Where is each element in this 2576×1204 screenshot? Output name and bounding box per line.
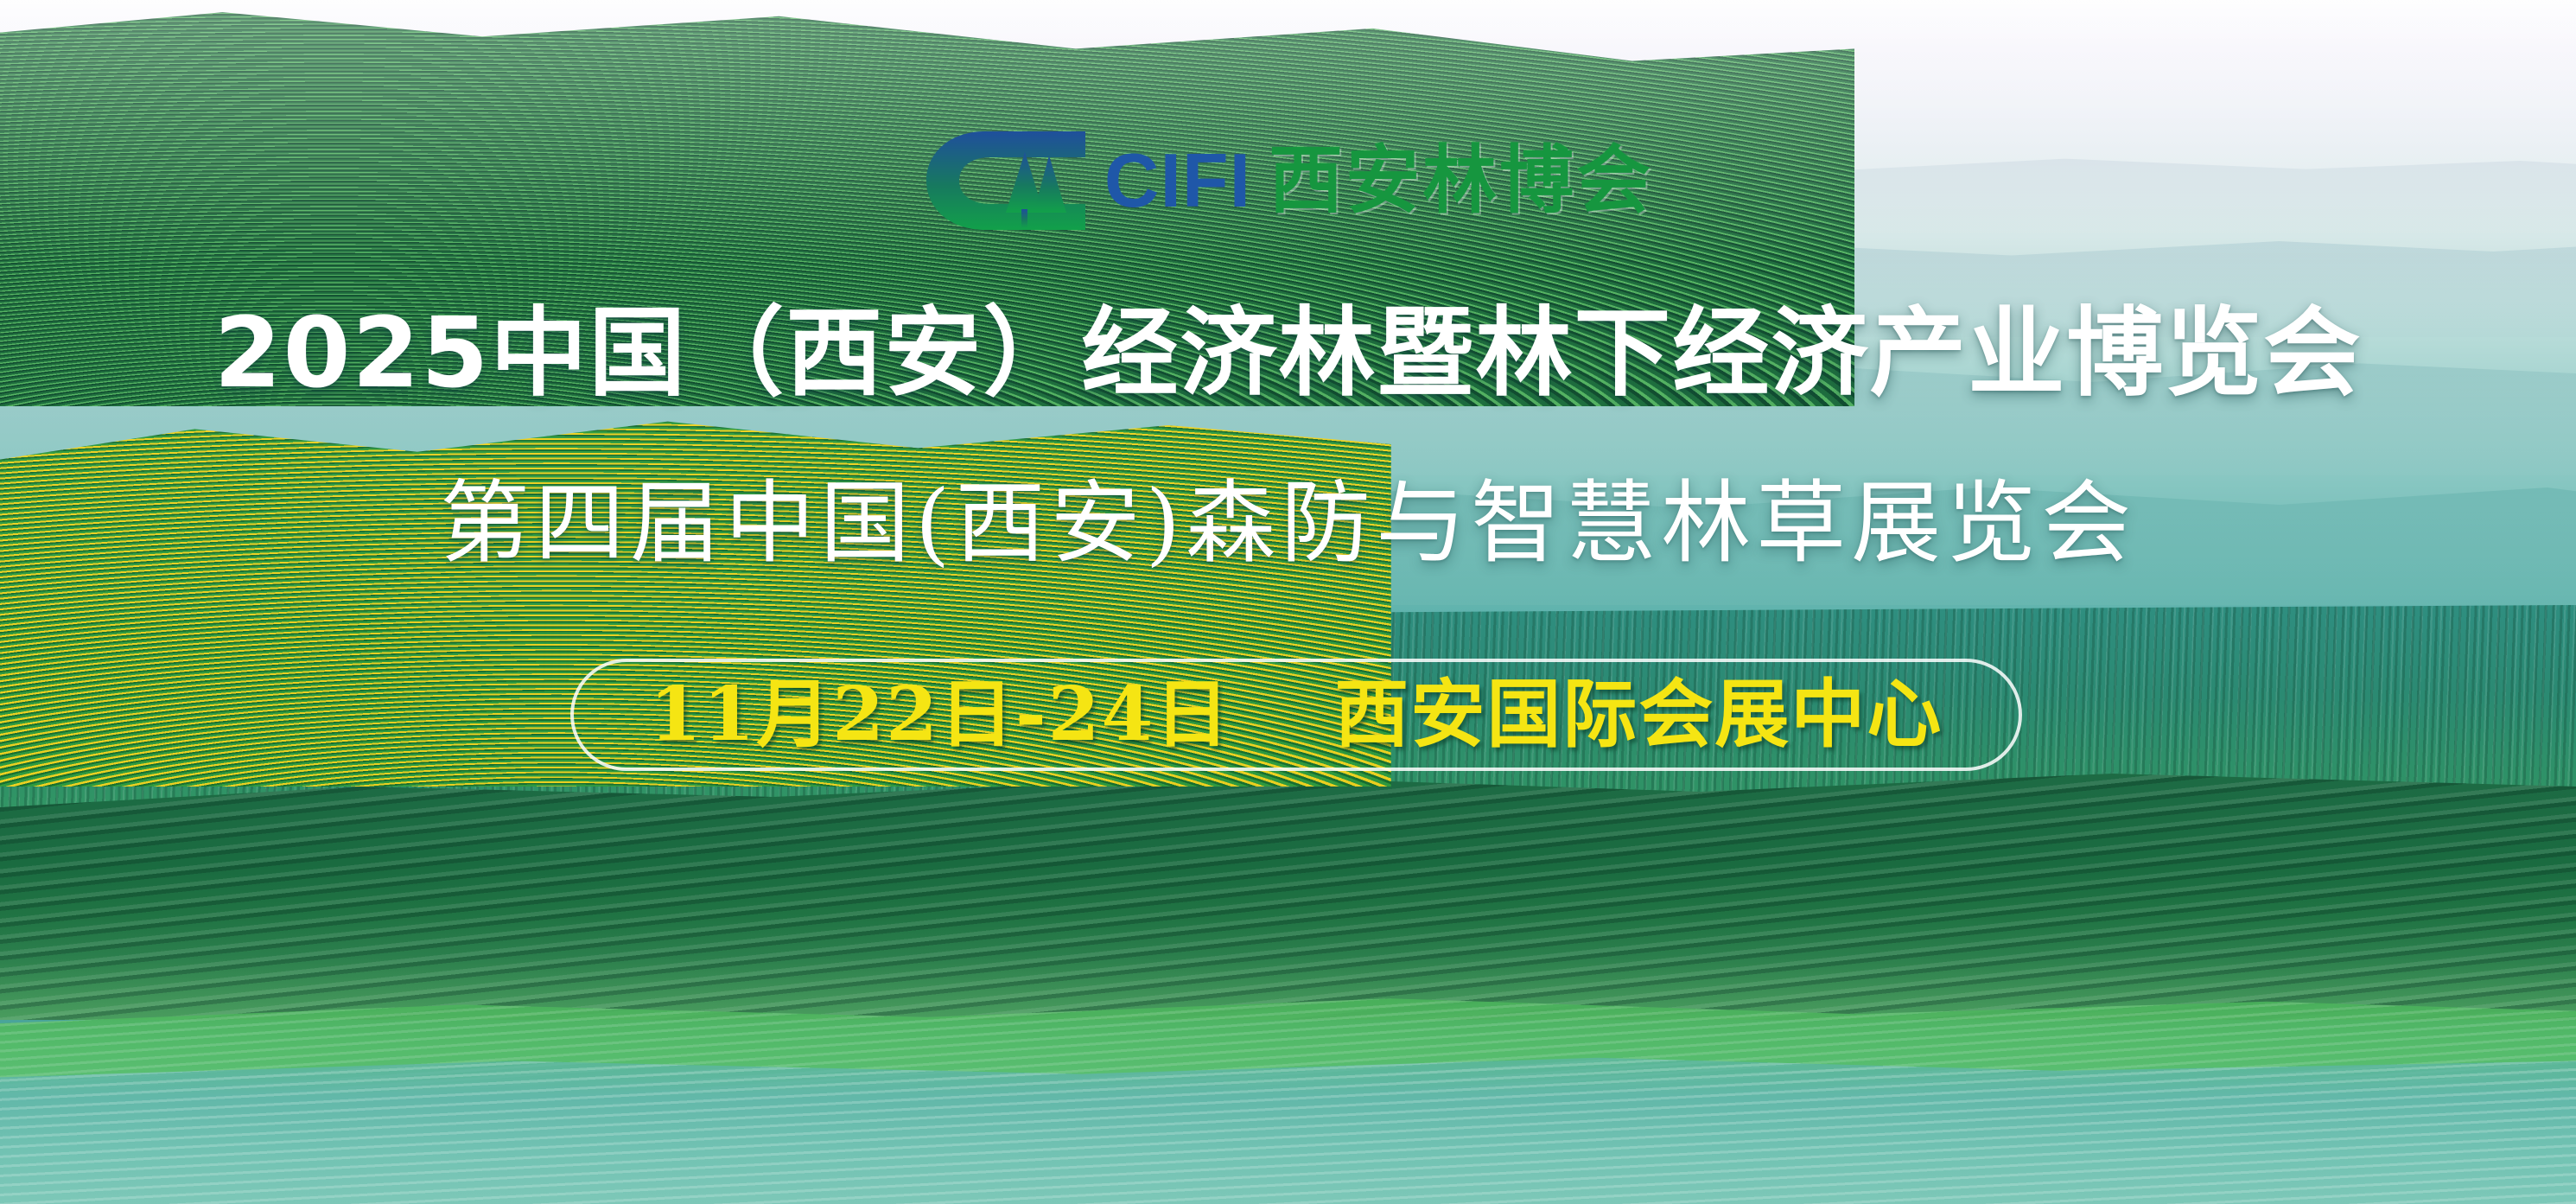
event-date: 11月22日-24日: [650, 678, 1231, 752]
exhibition-promo-banner: CIFI 西安林博会 2025中国（西安）经济林暨林下经济产业博览会 第四届中国…: [0, 0, 2576, 1204]
cifi-logo-lockup: CIFI 西安林博会: [0, 130, 2576, 232]
banner-content: CIFI 西安林博会 2025中国（西安）经济林暨林下经济产业博览会 第四届中国…: [0, 0, 2576, 1204]
logo-chinese-text: 西安林博会: [1269, 143, 1653, 218]
logo-latin-text: CIFI: [1104, 143, 1251, 219]
event-venue: 西安国际会展中心: [1334, 678, 1943, 752]
cifi-c-pine-logo-icon: [923, 130, 1087, 232]
date-venue-ribbon: 11月22日-24日 西安国际会展中心: [570, 659, 2022, 771]
event-title-secondary: 第四届中国(西安)森防与智慧林草展览会: [0, 449, 2576, 580]
event-title-primary: 2025中国（西安）经济林暨林下经济产业博览会: [0, 275, 2576, 415]
